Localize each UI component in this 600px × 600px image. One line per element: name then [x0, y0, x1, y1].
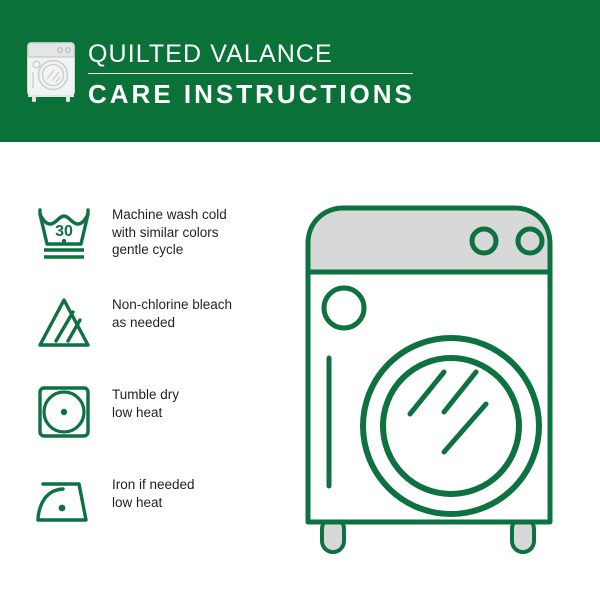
non-chlorine-bleach-triangle-icon: [30, 290, 98, 354]
page-title: QUILTED VALANCE: [88, 40, 558, 69]
tumble-dry-low-heat-icon: [30, 380, 98, 444]
care-instruction-row: 30 Machine wash cold with similar colors…: [30, 200, 280, 264]
care-instruction-label: Tumble dry low heat: [112, 386, 179, 421]
care-instruction-label: Non-chlorine bleach as needed: [112, 296, 232, 331]
header-text-block: QUILTED VALANCE CARE INSTRUCTIONS: [88, 40, 558, 109]
machine-control-panel: [311, 211, 548, 273]
machine-wash-30-gentle-icon: 30: [30, 200, 98, 264]
title-divider: [88, 73, 413, 74]
care-instruction-row: Tumble dry low heat: [30, 380, 280, 444]
washing-machine-icon: [24, 40, 78, 102]
care-instruction-row: Non-chlorine bleach as needed: [30, 290, 280, 354]
header-banner: QUILTED VALANCE CARE INSTRUCTIONS: [0, 0, 600, 142]
care-instruction-label: Iron if needed low heat: [112, 476, 195, 511]
front-load-washing-machine-illustration: [296, 196, 576, 556]
care-instruction-label: Machine wash cold with similar colors ge…: [112, 206, 227, 259]
wash-temperature-value: 30: [55, 223, 73, 240]
care-instruction-row: Iron if needed low heat: [30, 470, 280, 534]
iron-low-heat-icon: [30, 470, 98, 534]
page-subtitle: CARE INSTRUCTIONS: [88, 79, 558, 109]
care-instructions-infographic: QUILTED VALANCE CARE INSTRUCTIONS 30 Mac…: [0, 0, 600, 600]
machine-knob-right: [518, 229, 542, 253]
machine-knob-left: [472, 229, 496, 253]
